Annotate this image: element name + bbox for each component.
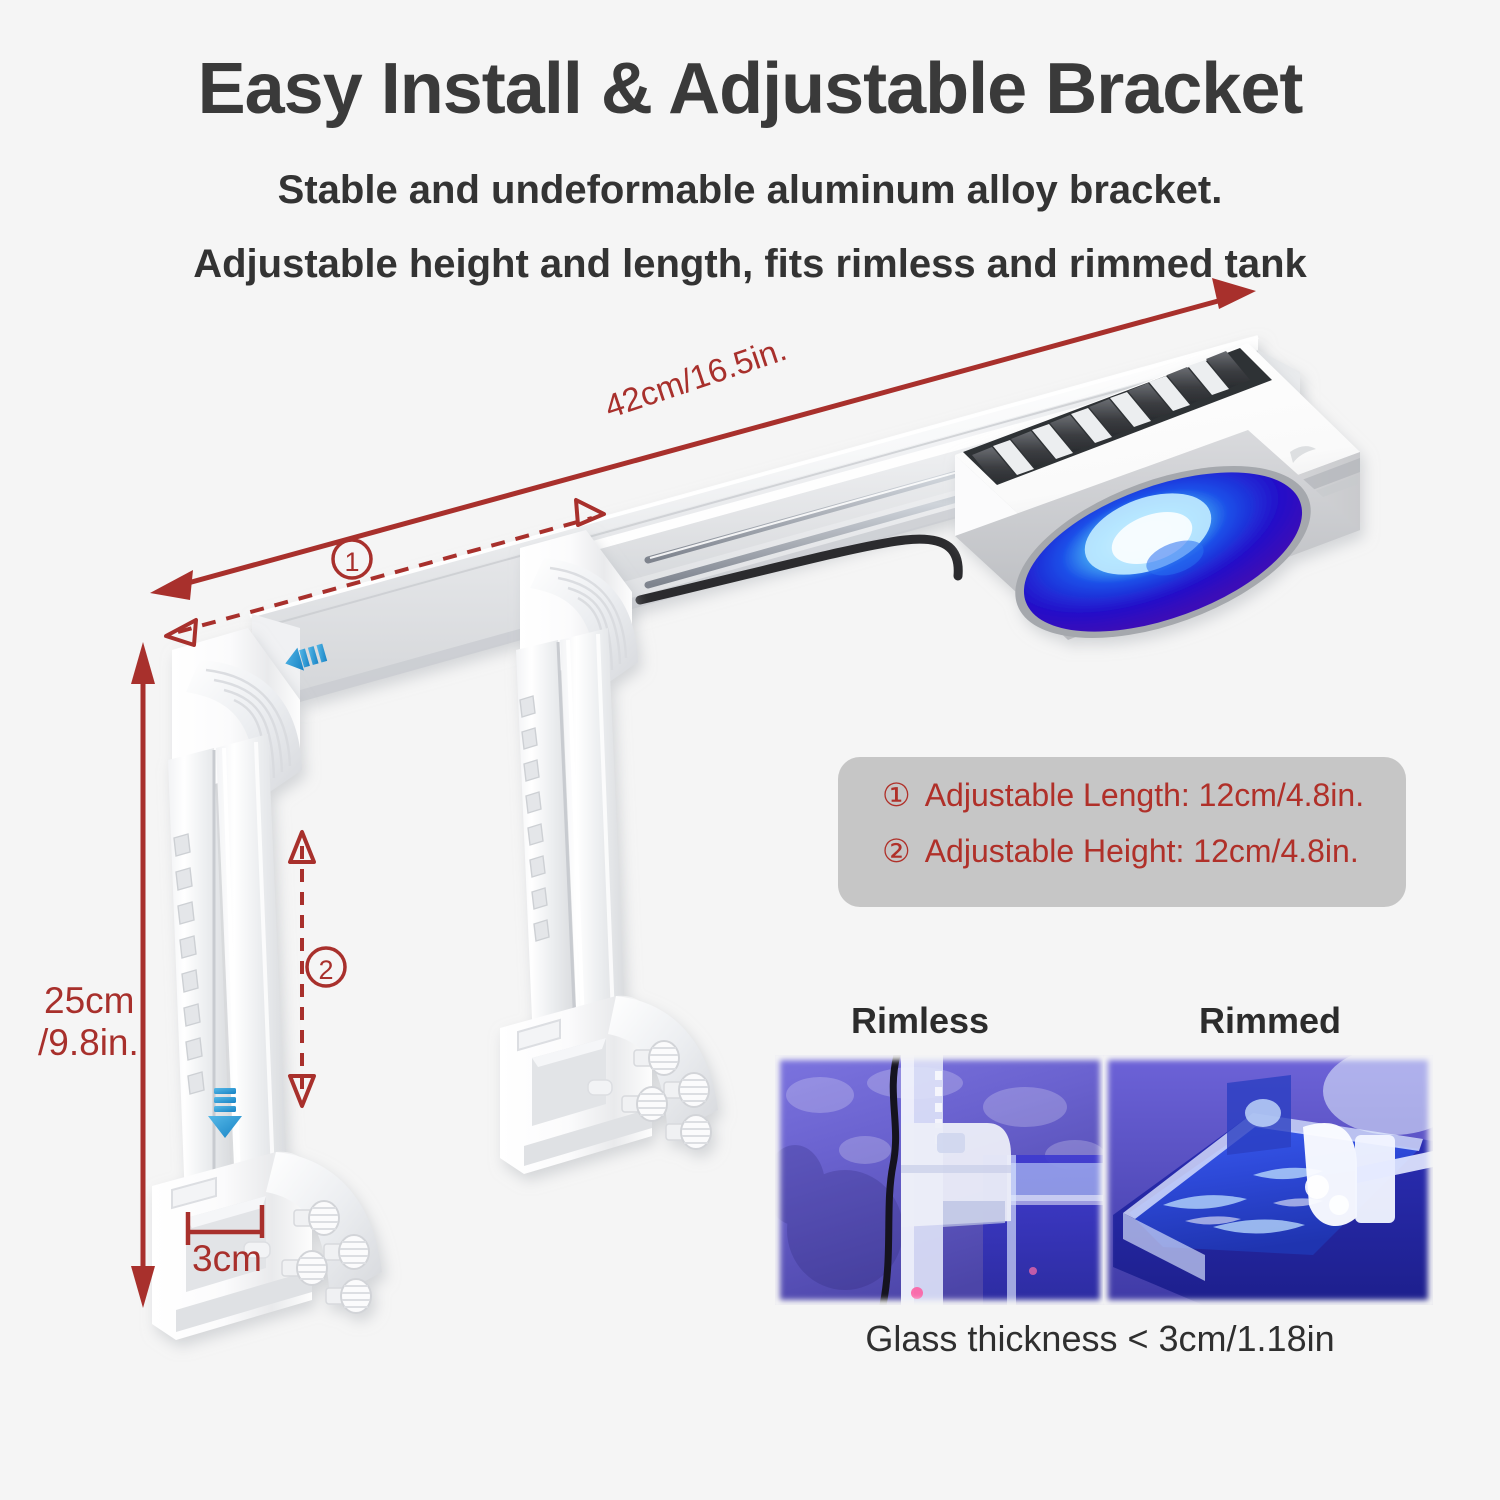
marker-one-diagram: 1 [333, 540, 371, 578]
height-25-arrow [131, 642, 155, 1308]
rimmed-install-photo [1103, 1055, 1433, 1305]
specs-callout-box: ① Adjustable Length: 12cm/4.8in. ② Adjus… [838, 757, 1406, 907]
callout-height-text: Adjustable Height: 12cm/4.8in. [925, 835, 1359, 867]
callout-row-length: ① Adjustable Length: 12cm/4.8in. [882, 779, 1406, 811]
svg-text:2: 2 [318, 955, 333, 985]
rimless-photo-title: Rimless [790, 1000, 1050, 1042]
marker-two-diagram: 2 [307, 948, 345, 986]
glass-thickness-note: Glass thickness < 3cm/1.18in [790, 1318, 1410, 1360]
svg-text:1: 1 [344, 547, 359, 577]
infographic-page: Easy Install & Adjustable Bracket Stable… [0, 0, 1500, 1500]
rimmed-photo-title: Rimmed [1140, 1000, 1400, 1042]
callout-row-height: ② Adjustable Height: 12cm/4.8in. [882, 835, 1406, 867]
marker-one-icon: ① [882, 779, 911, 811]
adjustable-height-arrow [290, 832, 314, 1106]
callout-length-text: Adjustable Length: 12cm/4.8in. [925, 779, 1364, 811]
label-overall-height-in: /9.8in. [38, 1022, 139, 1064]
label-clamp-width: 3cm [192, 1238, 262, 1280]
label-overall-height-cm: 25cm [44, 980, 134, 1022]
marker-two-icon: ② [882, 835, 911, 867]
bracket-arm-middle [500, 530, 718, 1174]
rimless-install-photo [775, 1055, 1105, 1305]
